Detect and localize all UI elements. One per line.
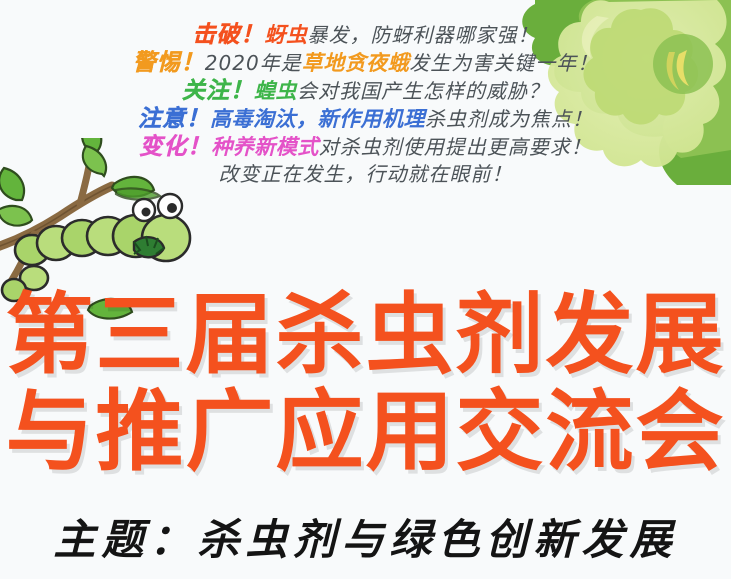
title-line-1: 第三届杀虫剂发展 — [5, 283, 725, 386]
headline-keyword: 变化！ — [139, 134, 211, 160]
headline-line-2: 警惕！2020年是草地贪夜蛾发生为害关键一年！ — [0, 52, 731, 75]
headline-emphasis: 蝗虫 — [254, 79, 297, 103]
headline-list: 击破！蚜虫暴发，防蚜利器哪家强！ 警惕！2020年是草地贪夜蛾发生为害关键一年！… — [0, 24, 731, 189]
headline-rest: 暴发，防蚜利器哪家强！ — [308, 23, 539, 47]
page-title: 第三届杀虫剂发展 与推广应用交流会 — [0, 286, 731, 480]
headline-keyword: 警惕！ — [133, 50, 205, 76]
headline-rest: 对杀虫剂使用提出更高要求！ — [319, 135, 592, 159]
headline-emphasis: 草地贪夜蛾 — [302, 51, 410, 75]
headline-keyword: 关注！ — [182, 78, 254, 104]
headline-line-4: 注意！高毒淘汰，新作用机理杀虫剂成为焦点！ — [0, 108, 731, 131]
headline-emphasis: 高毒淘汰，新作用机理 — [210, 107, 425, 131]
headline-rest: 会对我国产生怎样的威胁？ — [297, 79, 549, 103]
headline-keyword: 击破！ — [193, 22, 265, 48]
headline-line-6: 改变正在发生，行动就在眼前！ — [0, 164, 731, 184]
headline-emphasis: 种养新模式 — [211, 135, 319, 159]
headline-rest: 杀虫剂成为焦点！ — [425, 107, 593, 131]
headline-keyword: 注意！ — [138, 106, 210, 132]
headline-emphasis: 蚜虫 — [265, 23, 308, 47]
headline-lead: 2020年是 — [205, 51, 302, 75]
headline-rest: 发生为害关键一年！ — [409, 51, 598, 75]
headline-line-1: 击破！蚜虫暴发，防蚜利器哪家强！ — [0, 24, 731, 47]
poster-canvas: 击破！蚜虫暴发，防蚜利器哪家强！ 警惕！2020年是草地贪夜蛾发生为害关键一年！… — [0, 0, 731, 579]
headline-line-5: 变化！种养新模式对杀虫剂使用提出更高要求！ — [0, 136, 731, 159]
title-line-2: 与推广应用交流会 — [0, 383, 731, 480]
poster-subtitle: 主题：杀虫剂与绿色创新发展 — [0, 506, 731, 567]
headline-line-3: 关注！蝗虫会对我国产生怎样的威胁？ — [0, 80, 731, 103]
caterpillar-face — [133, 194, 182, 257]
